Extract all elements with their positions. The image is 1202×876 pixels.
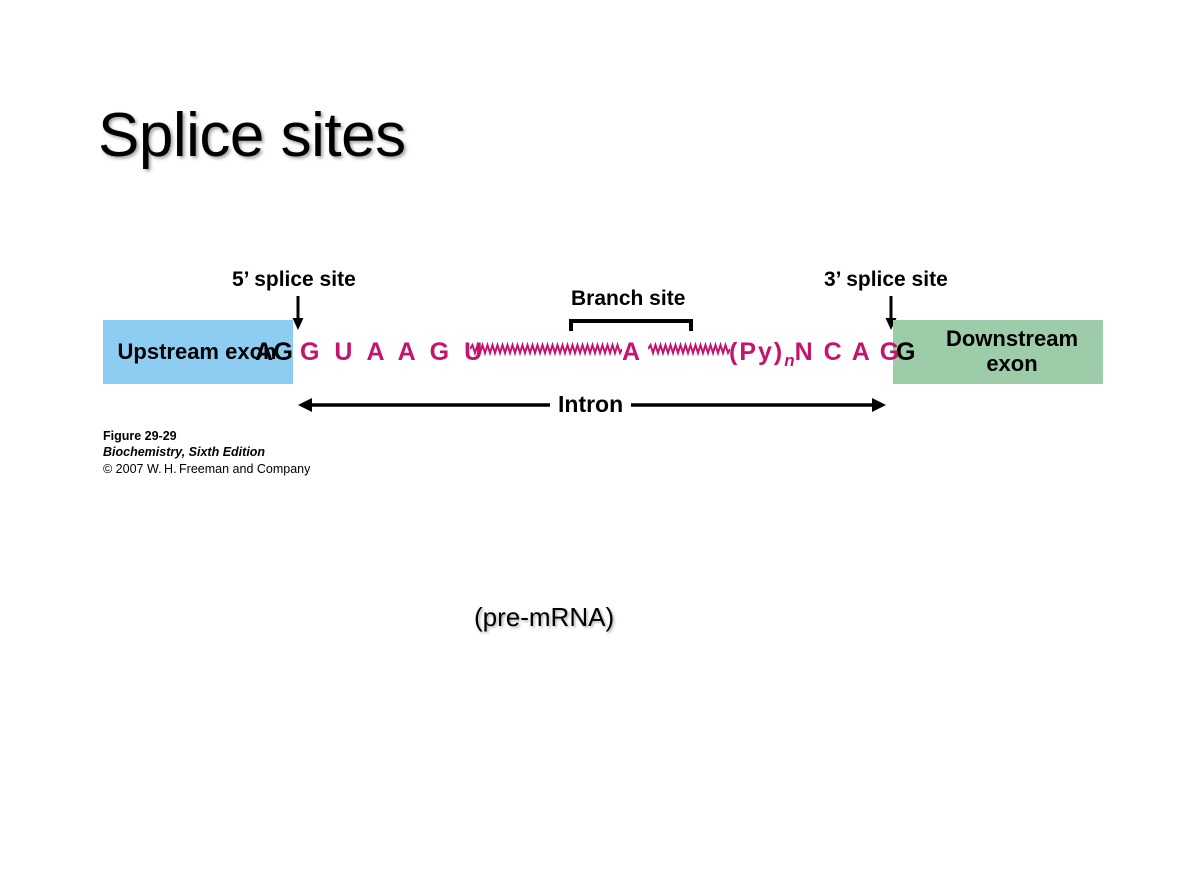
acceptor-site-sequence: (Py)nN C A G xyxy=(729,338,901,371)
five-prime-splice-site-label: 5’ splice site xyxy=(232,268,356,292)
branch-site-label: Branch site xyxy=(571,287,685,311)
upstream-flanking-bases: AG xyxy=(255,338,294,367)
three-prime-splice-site-label: 3’ splice site xyxy=(824,268,948,292)
downstream-exon-box: Downstream exon xyxy=(893,320,1103,384)
intron-strand-right-icon xyxy=(648,341,730,357)
polypyrimidine-tract-subscript: n xyxy=(784,351,794,370)
donor-site-sequence: G U A A G U xyxy=(300,338,486,367)
copyright-notice: © 2007 W. H. Freeman and Company xyxy=(103,461,310,478)
figure-credit: Figure 29-29 Biochemistry, Sixth Edition… xyxy=(103,428,310,477)
branch-site-bracket-icon xyxy=(569,318,693,332)
downstream-exon-label: Downstream exon xyxy=(921,327,1103,376)
acceptor-bases: N C A G xyxy=(795,338,902,366)
polypyrimidine-tract-label: (Py) xyxy=(729,338,784,366)
intron-label: Intron xyxy=(550,391,631,418)
intron-strand-left-icon xyxy=(470,341,622,357)
slide-canvas: Splice sites 5’ splice site 3’ splice si… xyxy=(0,0,1202,876)
upstream-exon-label: Upstream exon xyxy=(118,340,277,365)
branch-point-adenosine: A xyxy=(622,338,640,367)
figure-number: Figure 29-29 xyxy=(103,428,310,444)
source-book-title: Biochemistry, Sixth Edition xyxy=(103,444,310,460)
pre-mrna-caption: (pre-mRNA) xyxy=(474,602,614,633)
